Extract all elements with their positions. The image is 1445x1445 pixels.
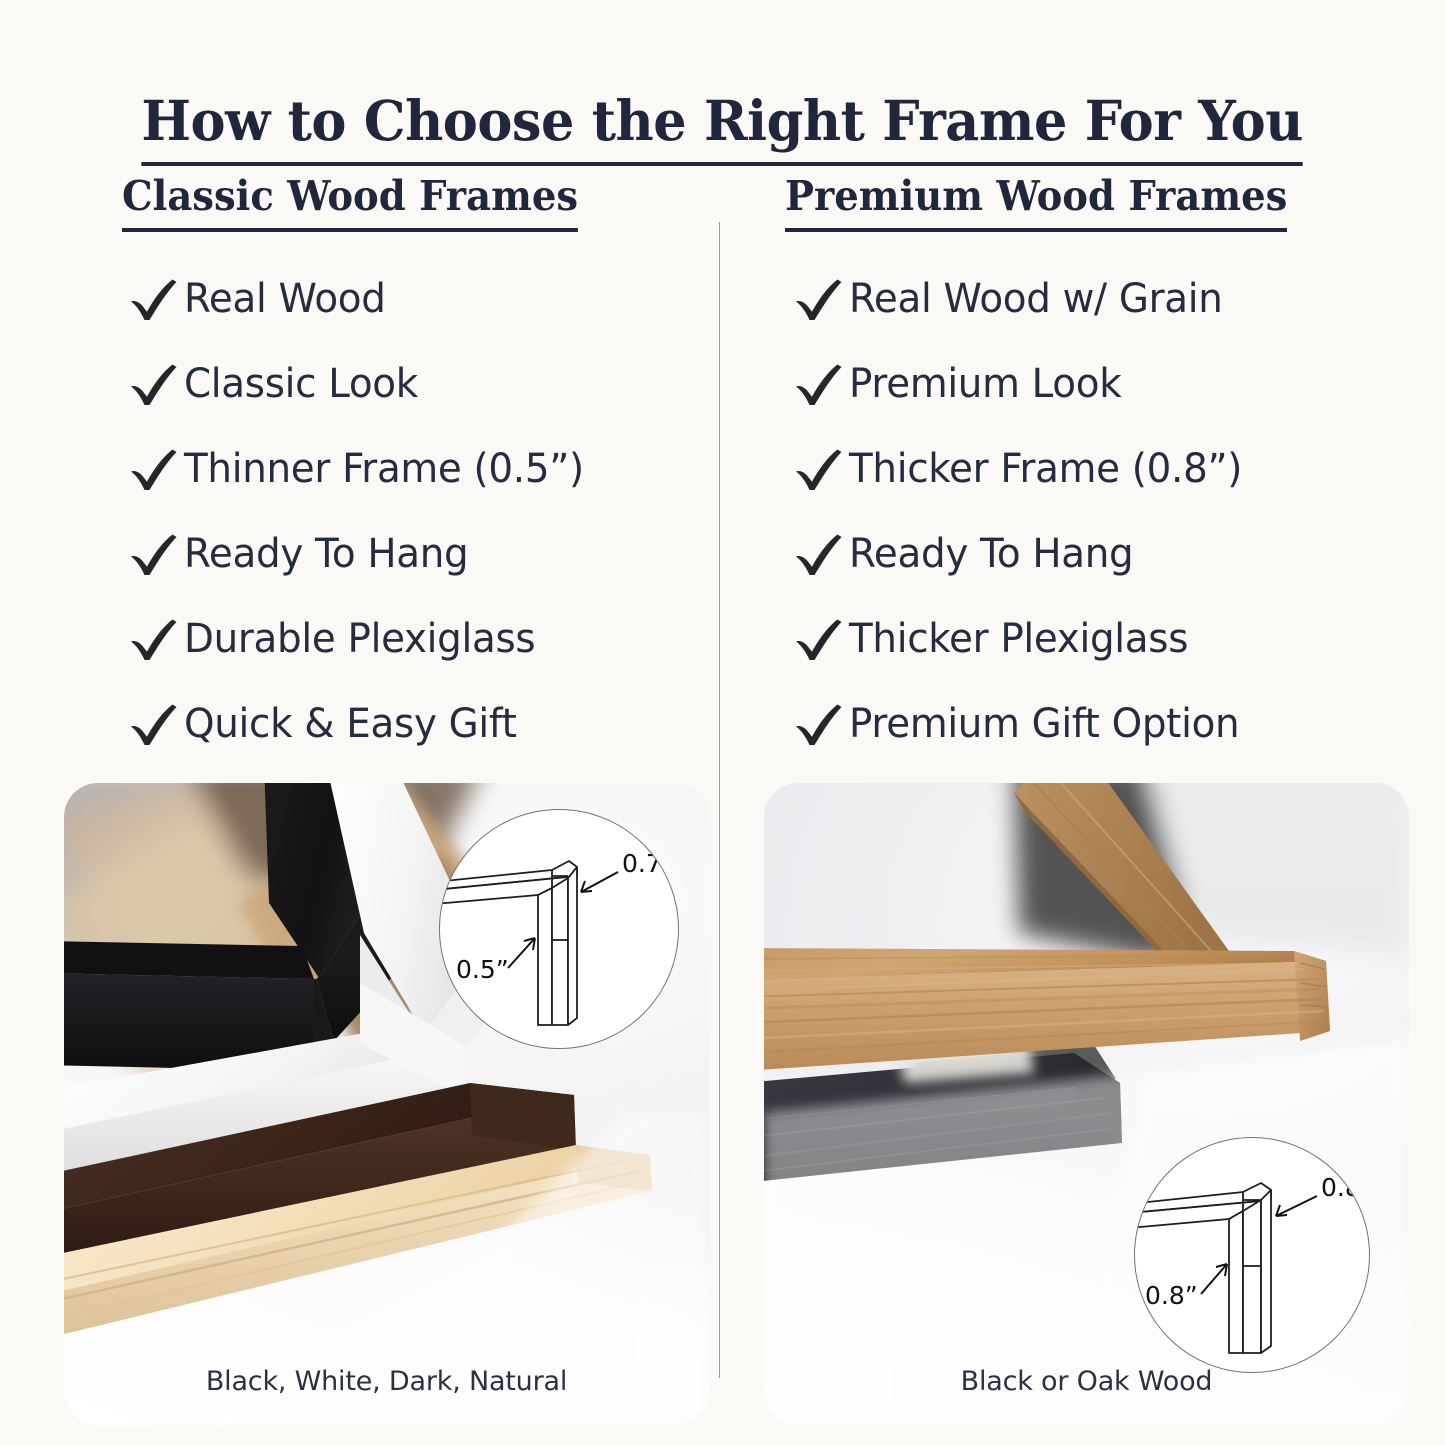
- page-title-text: How to Choose the Right Frame For You: [142, 88, 1304, 166]
- check-icon: [128, 531, 184, 577]
- check-icon: [793, 701, 849, 747]
- list-item: Real Wood w/ Grain: [793, 256, 1254, 341]
- list-item-label: Ready To Hang: [184, 534, 468, 574]
- list-item-label: Thinner Frame (0.5”): [184, 449, 584, 489]
- list-item: Real Wood: [128, 256, 596, 341]
- feature-list-classic: Real Wood Classic Look Thinner Frame (0.…: [128, 256, 596, 766]
- check-icon: [128, 446, 184, 492]
- list-item-label: Thicker Frame (0.8”): [849, 449, 1242, 489]
- list-item: Thicker Plexiglass: [793, 596, 1254, 681]
- list-item: Ready To Hang: [793, 511, 1254, 596]
- list-item: Thicker Frame (0.8”): [793, 426, 1254, 511]
- dimension-diagram-premium: 0.8” 0.8”: [1135, 1138, 1369, 1372]
- list-item: Quick & Easy Gift: [128, 681, 596, 766]
- check-icon: [128, 616, 184, 662]
- column-heading-premium: Premium Wood Frames: [785, 172, 1319, 232]
- check-icon: [793, 446, 849, 492]
- width-label: 0.5”: [456, 955, 509, 984]
- column-heading-premium-text: Premium Wood Frames: [785, 172, 1287, 232]
- list-item-label: Durable Plexiglass: [184, 619, 535, 659]
- width-label: 0.8”: [1145, 1281, 1198, 1310]
- column-heading-classic-text: Classic Wood Frames: [122, 172, 578, 232]
- dimension-diagram-classic: 0.75” 0.5”: [440, 810, 678, 1048]
- column-divider: [719, 222, 720, 1378]
- list-item: Classic Look: [128, 341, 596, 426]
- check-icon: [128, 701, 184, 747]
- check-icon: [793, 361, 849, 407]
- column-heading-classic: Classic Wood Frames: [122, 172, 607, 232]
- page-title: How to Choose the Right Frame For You: [0, 88, 1445, 166]
- check-icon: [793, 276, 849, 322]
- feature-list-premium: Real Wood w/ Grain Premium Look Thicker …: [793, 256, 1254, 766]
- list-item-label: Classic Look: [184, 364, 418, 404]
- check-icon: [793, 616, 849, 662]
- photo-premium-frames: 0.8” 0.8” Black or Oak Wood: [764, 783, 1409, 1425]
- list-item: Premium Look: [793, 341, 1254, 426]
- list-item-label: Premium Look: [849, 364, 1121, 404]
- list-item: Thinner Frame (0.5”): [128, 426, 596, 511]
- list-item: Premium Gift Option: [793, 681, 1254, 766]
- list-item-label: Ready To Hang: [849, 534, 1133, 574]
- list-item-label: Premium Gift Option: [849, 704, 1239, 744]
- photo-classic-frames: 0.75” 0.5” Black, White, Dark, Natural: [64, 783, 709, 1425]
- list-item: Ready To Hang: [128, 511, 596, 596]
- check-icon: [128, 361, 184, 407]
- check-icon: [793, 531, 849, 577]
- check-icon: [128, 276, 184, 322]
- list-item-label: Thicker Plexiglass: [849, 619, 1188, 659]
- list-item-label: Quick & Easy Gift: [184, 704, 517, 744]
- list-item: Durable Plexiglass: [128, 596, 596, 681]
- list-item-label: Real Wood w/ Grain: [849, 279, 1223, 319]
- photo-caption-classic: Black, White, Dark, Natural: [64, 1366, 709, 1397]
- photo-caption-premium: Black or Oak Wood: [764, 1366, 1409, 1397]
- list-item-label: Real Wood: [184, 279, 386, 319]
